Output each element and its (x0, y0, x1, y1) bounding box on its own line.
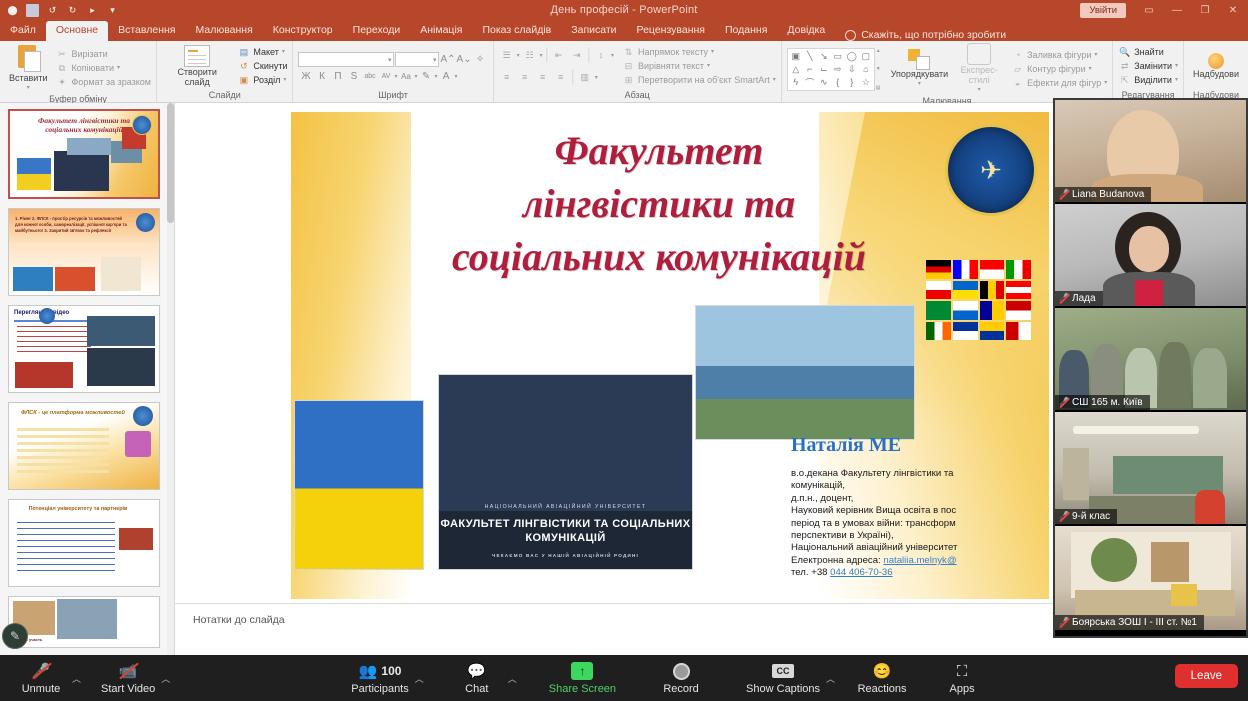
chevron-down-icon[interactable]: ▾ (415, 73, 418, 80)
thumbnail-scrollbar-thumb[interactable] (167, 103, 174, 223)
scissors-icon: ✂ (56, 48, 69, 60)
show-captions-button[interactable]: CC Show Captions (740, 655, 826, 701)
show-captions-label: Show Captions (746, 683, 820, 695)
ribbon-group-drawing: ▣ ╲ ↘ ▭ ◯ ▢ △ ⌐ ⌙ ⇨ ⇩ ⌂ ϟ (782, 41, 1113, 102)
phone-number[interactable]: 044 406-70-36 (830, 567, 892, 578)
detail-line-2: комунікацій, (791, 480, 1049, 492)
cut-label: Вирізати (72, 48, 108, 61)
ribbon-display-options-icon[interactable]: ▭ (1136, 0, 1162, 20)
new-slide-label: Створити слайд (166, 67, 228, 87)
video-tile-2[interactable]: Лада (1055, 204, 1246, 308)
copy-label: Копіювати (72, 62, 115, 75)
participants-count: 100 (381, 664, 401, 678)
font-group-label: Шрифт (298, 89, 487, 102)
textbox-shape-icon[interactable]: ▣ (789, 50, 803, 63)
redo-icon[interactable]: ↻ (66, 4, 79, 17)
flags-image (926, 260, 1031, 340)
find-label: Знайти (1134, 46, 1164, 59)
sign-in-button[interactable]: Увійти (1080, 3, 1126, 18)
font-size-input[interactable]: ▾ (395, 52, 439, 67)
participant-name: 9-й клас (1072, 511, 1110, 522)
shape-effects-icon: ◒ (1011, 77, 1024, 89)
customize-qat-icon[interactable]: ▾ (106, 4, 119, 17)
detail-line-4: Науковий керівник Вища освіта в пос (791, 505, 1049, 517)
phone-label: тел. +38 (791, 567, 830, 578)
chat-label: Chat (465, 683, 488, 695)
paste-button[interactable]: Вставити ▾ (5, 43, 52, 93)
university-logo: ✈ (945, 124, 1037, 216)
microphone-muted-icon: 🎤 (32, 661, 51, 681)
shape-fill-icon: ◔ (1011, 49, 1024, 61)
thumb-4-title: ФЛСК - це платформа можливостей (21, 410, 125, 417)
participant-name: СШ 165 м. Київ (1072, 397, 1143, 408)
shapes-gallery[interactable]: ▣ ╲ ↘ ▭ ◯ ▢ △ ⌐ ⌙ ⇨ ⇩ ⌂ ϟ (787, 48, 875, 91)
text-direction-icon: ⇅ (622, 46, 635, 58)
smartart-button[interactable]: ⊞ Перетворити на об'єкт SmartArt ▾ (622, 74, 776, 87)
addins-icon (1208, 53, 1224, 69)
record-label: Record (663, 683, 698, 695)
layout-label: Макет (253, 46, 278, 59)
undo-icon[interactable]: ↺ (46, 4, 59, 17)
decrease-font-size-button[interactable]: A⌄ (457, 52, 472, 67)
down-arrow-shape-icon[interactable]: ⇩ (845, 63, 859, 76)
chat-button[interactable]: 💬 Chat (446, 655, 508, 701)
paintbrush-icon: ✦ (56, 76, 69, 88)
ribbon-group-addins: Надбудови Надбудови (1184, 41, 1248, 102)
closed-captions-icon: CC (772, 661, 794, 681)
current-slide[interactable]: Факультет лінгвістики та соціальних кому… (291, 112, 1049, 599)
tab-draw[interactable]: Малювання (185, 21, 262, 41)
reactions-label: Reactions (858, 683, 907, 695)
shape-outline-button[interactable]: ▱ Контур фігури ▾ (1011, 63, 1107, 76)
restore-button[interactable]: ❐ (1192, 0, 1218, 20)
increase-indent-icon[interactable]: ⇥ (569, 48, 585, 62)
align-text-label: Вирівняти текст (638, 60, 704, 73)
chevron-down-icon: ▾ (282, 46, 285, 59)
slide-thumbnail-2[interactable]: 1. Ріwer 2. ФЛСК - простір ресурсів та м… (8, 208, 160, 296)
arrange-button[interactable]: Упорядкувати ▾ (887, 49, 952, 89)
zoom-toolbar: 🎤 Unmute ︿ 📹 Start Video ︿ 👥 100 Partici… (0, 655, 1248, 701)
cut-button[interactable]: ✂ Вирізати (56, 48, 152, 61)
font-color-button[interactable]: A (439, 69, 454, 84)
justify-icon[interactable]: ≡ (553, 70, 569, 84)
arc-shape-icon[interactable]: ∿ (817, 76, 831, 89)
share-screen-icon: ↑ (571, 661, 593, 681)
slide-thumbnail-3[interactable]: Перегляньте відео (8, 305, 160, 393)
building-photo (695, 305, 915, 440)
tab-review[interactable]: Рецензування (627, 21, 715, 41)
triangle-shape-icon[interactable]: △ (789, 63, 803, 76)
format-painter-button[interactable]: ✦ Формат за зразком (56, 76, 152, 89)
participant-name: Лада (1072, 293, 1096, 304)
tab-record[interactable]: Записати (561, 21, 626, 41)
replace-button[interactable]: ⇄ Замінити ▾ (1118, 60, 1178, 73)
audio-options-chevron-icon[interactable]: ︿ (72, 655, 81, 701)
section-label: Розділ (253, 74, 280, 87)
italic-button[interactable]: К (314, 69, 329, 84)
text-direction-button[interactable]: ⇅ Напрямок тексту ▾ (622, 46, 776, 59)
tell-me-label: Скажіть, що потрібно зробити (861, 29, 1006, 41)
align-center-icon[interactable]: ≡ (517, 70, 533, 84)
title-bar: ⬤ ↺ ↻ ▸ ▾ День професій - PowerPoint Уві… (0, 0, 1248, 20)
replace-label: Замінити (1134, 60, 1172, 73)
quick-styles-icon (967, 43, 991, 65)
thumb-2-title: 1. Ріwer 2. ФЛСК - простір ресурсів та м… (15, 216, 129, 234)
zoom-video-panel[interactable]: Liana Budanova Лада СШ 165 м. Київ (1053, 98, 1248, 638)
slideshow-icon[interactable]: ▸ (86, 4, 99, 17)
tab-view[interactable]: Подання (715, 21, 777, 41)
close-button[interactable]: ✕ (1220, 0, 1246, 20)
lightbulb-icon (845, 30, 856, 41)
slide-title-line-3: соціальних комунікацій (339, 230, 979, 283)
slide-thumbnail-6[interactable]: Візьми участь (8, 596, 160, 648)
search-icon: 🔍 (1118, 46, 1131, 58)
participants-icon: 👥 100 (359, 661, 402, 681)
text-highlight-icon[interactable]: ✎ (419, 69, 434, 84)
participant-name: Боярська ЗОШ I - III ст. №1 (1072, 617, 1197, 628)
ukraine-flag-photo (294, 400, 424, 570)
email-link[interactable]: nataliia.melnyk@ (883, 555, 956, 566)
detail-line-7: Національний авіаційний університет (791, 542, 1049, 554)
apps-button[interactable]: ⛶ Apps (931, 655, 993, 701)
start-video-button[interactable]: 📹 Start Video (95, 655, 161, 701)
ribbon-tabs: Файл Основне Вставлення Малювання Констр… (0, 20, 1248, 41)
screen: ⬤ ↺ ↻ ▸ ▾ День професій - PowerPoint Уві… (0, 0, 1248, 701)
slide-thumbnail-1[interactable]: Факультет лінгвістики та соціальних кому… (8, 109, 160, 199)
apps-label: Apps (950, 683, 975, 695)
speaker-details[interactable]: в.о.декана Факультету лінгвістики та ком… (791, 468, 1049, 580)
find-button[interactable]: 🔍 Знайти (1118, 46, 1178, 59)
wings-icon: ✈ (980, 155, 1002, 186)
slide-title-line-1: Факультет (339, 124, 979, 177)
slide-title[interactable]: Факультет лінгвістики та соціальних кому… (339, 124, 979, 283)
smartart-label: Перетворити на об'єкт SmartArt (638, 74, 770, 87)
video-name-1: Liana Budanova (1055, 187, 1151, 202)
thumb-5-title: Потенціал університету та партнерів (23, 506, 133, 512)
video-tile-5[interactable]: Боярська ЗОШ I - III ст. №1 (1055, 526, 1246, 630)
ribbon-group-clipboard: Вставити ▾ ✂ Вирізати ⧉ Копіювати ▾ (0, 41, 157, 102)
photo-caption-sub: ЧЕКАЄМО ВАС У НАШІЙ АВІАЦІЙНІЙ РОДИНІ (439, 549, 692, 563)
mic-muted-icon (1059, 397, 1068, 408)
shape-fill-label: Заливка фігури (1027, 49, 1091, 62)
detail-line-6: перспективи в Україні), (791, 530, 1049, 542)
freeform-shape-icon[interactable]: ϟ (789, 76, 803, 89)
unmute-button[interactable]: 🎤 Unmute (10, 655, 72, 701)
shape-fill-button[interactable]: ◔ Заливка фігури ▾ (1011, 49, 1107, 62)
left-brace-shape-icon[interactable]: { (831, 76, 845, 89)
chevron-down-icon[interactable]: ▾ (394, 73, 397, 80)
participants-button[interactable]: 👥 100 Participants (345, 655, 414, 701)
mic-muted-icon (1059, 617, 1068, 628)
quick-access-toolbar: ⬤ ↺ ↻ ▸ ▾ (0, 4, 119, 17)
chat-chevron-icon[interactable]: ︿ (508, 655, 517, 701)
autosave-icon[interactable]: ⬤ (6, 4, 19, 17)
clipboard-icon (15, 43, 41, 73)
save-icon[interactable] (26, 4, 39, 17)
mic-muted-icon (1059, 189, 1068, 200)
rounded-rect-shape-icon[interactable]: ▢ (859, 50, 873, 63)
align-left-icon[interactable]: ≡ (499, 70, 515, 84)
section-icon: ▣ (237, 74, 250, 86)
video-name-5: Боярська ЗОШ I - III ст. №1 (1055, 615, 1204, 630)
detail-line-5: період та в умовах війни: трансформ (791, 518, 1049, 530)
shape-effects-label: Ефекти для фігур (1027, 77, 1101, 90)
bullets-icon[interactable]: ☰ (499, 48, 515, 62)
captions-chevron-icon[interactable]: ︿ (826, 655, 835, 701)
shape-outline-icon: ▱ (1011, 63, 1024, 75)
speaker-name[interactable]: Наталія МЕ (791, 434, 901, 457)
select-icon: ⇱ (1118, 74, 1131, 86)
thumb-5-canvas: Потенціал університету та партнерів (9, 500, 159, 586)
columns-icon[interactable]: ▥ (577, 70, 593, 84)
align-right-icon[interactable]: ≡ (535, 70, 551, 84)
paragraph-group-label: Абзац (499, 89, 776, 102)
tell-me-box[interactable]: Скажіть, що потрібно зробити (835, 29, 1006, 41)
thumbnail-scrollbar[interactable] (167, 103, 174, 655)
share-screen-label: Share Screen (549, 683, 616, 695)
thumb-4-canvas: ФЛСК - це платформа можливостей (9, 403, 159, 489)
bold-button[interactable]: Ж (298, 69, 313, 84)
annotate-pen-button[interactable]: ✎ (2, 623, 28, 649)
section-button[interactable]: ▣ Розділ ▾ (237, 74, 287, 87)
thumb-6-canvas: Візьми участь (9, 597, 159, 647)
reset-button[interactable]: ↺ Скинути (237, 60, 287, 73)
clear-formatting-icon[interactable]: ✧ (473, 52, 488, 67)
paste-label: Вставити (9, 73, 48, 83)
addins-label: Надбудови (1193, 69, 1239, 79)
window-title: День професій - PowerPoint (0, 4, 1248, 16)
pentagon-shape-icon[interactable]: ⌂ (859, 63, 873, 76)
photo-caption-small: НАЦІОНАЛЬНИЙ АВІАЦІЙНИЙ УНІВЕРСИТЕТ (439, 500, 692, 514)
slides-group-label: Слайди (162, 89, 287, 102)
shapes-scroll-up-icon[interactable]: ▲ (876, 48, 881, 54)
character-spacing-button[interactable]: AV (378, 69, 393, 84)
quick-styles-label: Експрес-стилі (956, 65, 1002, 85)
shape-outline-label: Контур фігури (1027, 63, 1085, 76)
select-label: Виділити (1134, 74, 1172, 87)
window-controls: Увійти ▭ — ❐ ✕ (1080, 0, 1246, 20)
ribbon: Вставити ▾ ✂ Вирізати ⧉ Копіювати ▾ (0, 41, 1248, 103)
tab-insert[interactable]: Вставлення (108, 21, 185, 41)
start-video-label: Start Video (101, 683, 155, 695)
line-spacing-icon[interactable]: ↕ (593, 48, 609, 62)
tab-transitions[interactable]: Переходи (343, 21, 411, 41)
elbow2-shape-icon[interactable]: ⌙ (817, 63, 831, 76)
video-options-chevron-icon[interactable]: ︿ (161, 655, 170, 701)
ribbon-group-font: ▾ ▾ A⌃ A⌄ ✧ Ж К П S abc AV ▾ Aa (293, 41, 493, 102)
tab-animations[interactable]: Анімація (410, 21, 472, 41)
detail-line-1: в.о.декана Факультету лінгвістики та (791, 468, 1049, 480)
record-button[interactable]: Record (650, 655, 712, 701)
photo-caption: НАЦІОНАЛЬНИЙ АВІАЦІЙНИЙ УНІВЕРСИТЕТ ФАКУ… (439, 500, 692, 563)
change-case-button[interactable]: Aa (399, 69, 414, 84)
chevron-down-icon: ▾ (117, 62, 120, 75)
reactions-icon: 😊 (873, 661, 892, 681)
ribbon-group-paragraph: ☰▾ ☷▾ | ⇤ ⇥ | ↕▾ ≡ ≡ ≡ ≡ (494, 41, 782, 102)
elbow-shape-icon[interactable]: ⌐ (803, 63, 817, 76)
text-shadow-button[interactable]: S (346, 69, 361, 84)
shapes-more-icon[interactable]: ▤ (876, 85, 881, 91)
copy-button[interactable]: ⧉ Копіювати ▾ (56, 62, 152, 75)
tab-help[interactable]: Довідка (777, 21, 835, 41)
video-tile-4[interactable]: 9-й клас (1055, 412, 1246, 526)
smartart-icon: ⊞ (622, 74, 635, 86)
chevron-down-icon[interactable]: ▾ (435, 73, 438, 80)
slide-title-line-2: лінгвістики та (339, 177, 979, 230)
reset-label: Скинути (253, 60, 287, 73)
ribbon-group-editing: 🔍 Знайти ⇄ Замінити ▾ ⇱ Виділити ▾ (1113, 41, 1184, 102)
right-brace-shape-icon[interactable]: } (845, 76, 859, 89)
record-icon (673, 661, 690, 681)
video-tile-3[interactable]: СШ 165 м. Київ (1055, 308, 1246, 412)
numbering-icon[interactable]: ☷ (522, 48, 538, 62)
oval-shape-icon[interactable]: ◯ (845, 50, 859, 63)
text-direction-label: Напрямок тексту (638, 46, 708, 59)
email-label: Електронна адреса: (791, 555, 883, 566)
select-button[interactable]: ⇱ Виділити ▾ (1118, 74, 1178, 87)
align-text-button[interactable]: ⊟ Вирівняти текст ▾ (622, 60, 776, 73)
leave-button[interactable]: Leave (1175, 664, 1238, 688)
line-shape-icon[interactable]: ╲ (803, 50, 817, 63)
tab-file[interactable]: Файл (0, 21, 46, 41)
participants-chevron-icon[interactable]: ︿ (415, 655, 424, 701)
format-painter-label: Формат за зразком (72, 76, 152, 89)
font-name-input[interactable]: ▾ (298, 52, 394, 67)
tab-design[interactable]: Конструктор (263, 21, 343, 41)
copy-icon: ⧉ (56, 62, 69, 74)
arrange-icon (908, 49, 930, 69)
reactions-button[interactable]: 😊 Reactions (851, 655, 913, 701)
photo-caption-main: ФАКУЛЬТЕТ ЛІНГВІСТИКИ ТА СОЦІАЛЬНИХ КОМУ… (441, 518, 691, 544)
faculty-group-photo: НАЦІОНАЛЬНИЙ АВІАЦІЙНИЙ УНІВЕРСИТЕТ ФАКУ… (438, 374, 693, 570)
shapes-scroll-down-icon[interactable]: ▼ (876, 66, 881, 72)
tab-slideshow[interactable]: Показ слайдів (472, 21, 561, 41)
minimize-button[interactable]: — (1164, 0, 1190, 20)
reset-icon: ↺ (237, 60, 250, 72)
detail-line-3: д.п.н., доцент, (791, 493, 1049, 505)
addins-button[interactable]: Надбудови (1189, 53, 1243, 79)
new-slide-button[interactable]: Створити слайд (162, 45, 232, 87)
strikethrough-button[interactable]: abc (362, 69, 377, 84)
camera-off-icon: 📹 (119, 661, 138, 681)
replace-icon: ⇄ (1118, 60, 1131, 72)
layout-button[interactable]: ▤ Макет ▾ (237, 46, 287, 59)
ribbon-group-slides: Створити слайд ▤ Макет ▾ ↺ Скинути (157, 41, 293, 102)
rectangle-shape-icon[interactable]: ▭ (831, 50, 845, 63)
video-name-2: Лада (1055, 291, 1103, 306)
video-name-4: 9-й клас (1055, 509, 1117, 524)
thumb-3-canvas: Перегляньте відео (9, 306, 159, 392)
apps-icon: ⛶ (957, 661, 968, 681)
curve-shape-icon[interactable]: ⌒ (803, 76, 817, 89)
arrange-label: Упорядкувати (891, 69, 948, 79)
quick-styles-button[interactable]: Експрес-стилі ▾ (952, 43, 1006, 95)
new-slide-icon (184, 45, 210, 67)
mic-muted-icon (1059, 511, 1068, 522)
decrease-indent-icon[interactable]: ⇤ (551, 48, 567, 62)
underline-button[interactable]: П (330, 69, 345, 84)
tab-home[interactable]: Основне (46, 21, 108, 41)
layout-icon: ▤ (237, 46, 250, 58)
participants-label: Participants (351, 683, 408, 695)
slide-thumbnail-5[interactable]: Потенціал університету та партнерів (8, 499, 160, 587)
thumb-1-canvas: Факультет лінгвістики та соціальних кому… (10, 111, 158, 197)
participant-name: Liana Budanova (1072, 189, 1144, 200)
video-name-3: СШ 165 м. Київ (1055, 395, 1150, 410)
chat-icon: 💬 (467, 661, 486, 681)
right-arrow-shape-icon[interactable]: ⇨ (831, 63, 845, 76)
align-text-icon: ⊟ (622, 60, 635, 72)
chevron-down-icon: ▾ (283, 74, 286, 87)
chevron-down-icon: ▾ (27, 83, 30, 93)
video-tile-1[interactable]: Liana Budanova (1055, 100, 1246, 204)
cc-text: CC (772, 664, 794, 678)
increase-font-size-button[interactable]: A⌃ (440, 52, 455, 67)
slide-thumbnail-pane[interactable]: Факультет лінгвістики та соціальних кому… (0, 103, 175, 655)
arrow-shape-icon[interactable]: ↘ (817, 50, 831, 63)
shape-effects-button[interactable]: ◒ Ефекти для фігур ▾ (1011, 77, 1107, 90)
chevron-down-icon[interactable]: ▾ (455, 73, 458, 80)
mic-muted-icon (1059, 293, 1068, 304)
share-screen-button[interactable]: ↑ Share Screen (543, 655, 622, 701)
star-shape-icon[interactable]: ☆ (859, 76, 873, 89)
thumb-2-canvas: 1. Ріwer 2. ФЛСК - простір ресурсів та м… (9, 209, 159, 295)
unmute-label: Unmute (22, 683, 61, 695)
slide-thumbnail-4[interactable]: ФЛСК - це платформа можливостей (8, 402, 160, 490)
